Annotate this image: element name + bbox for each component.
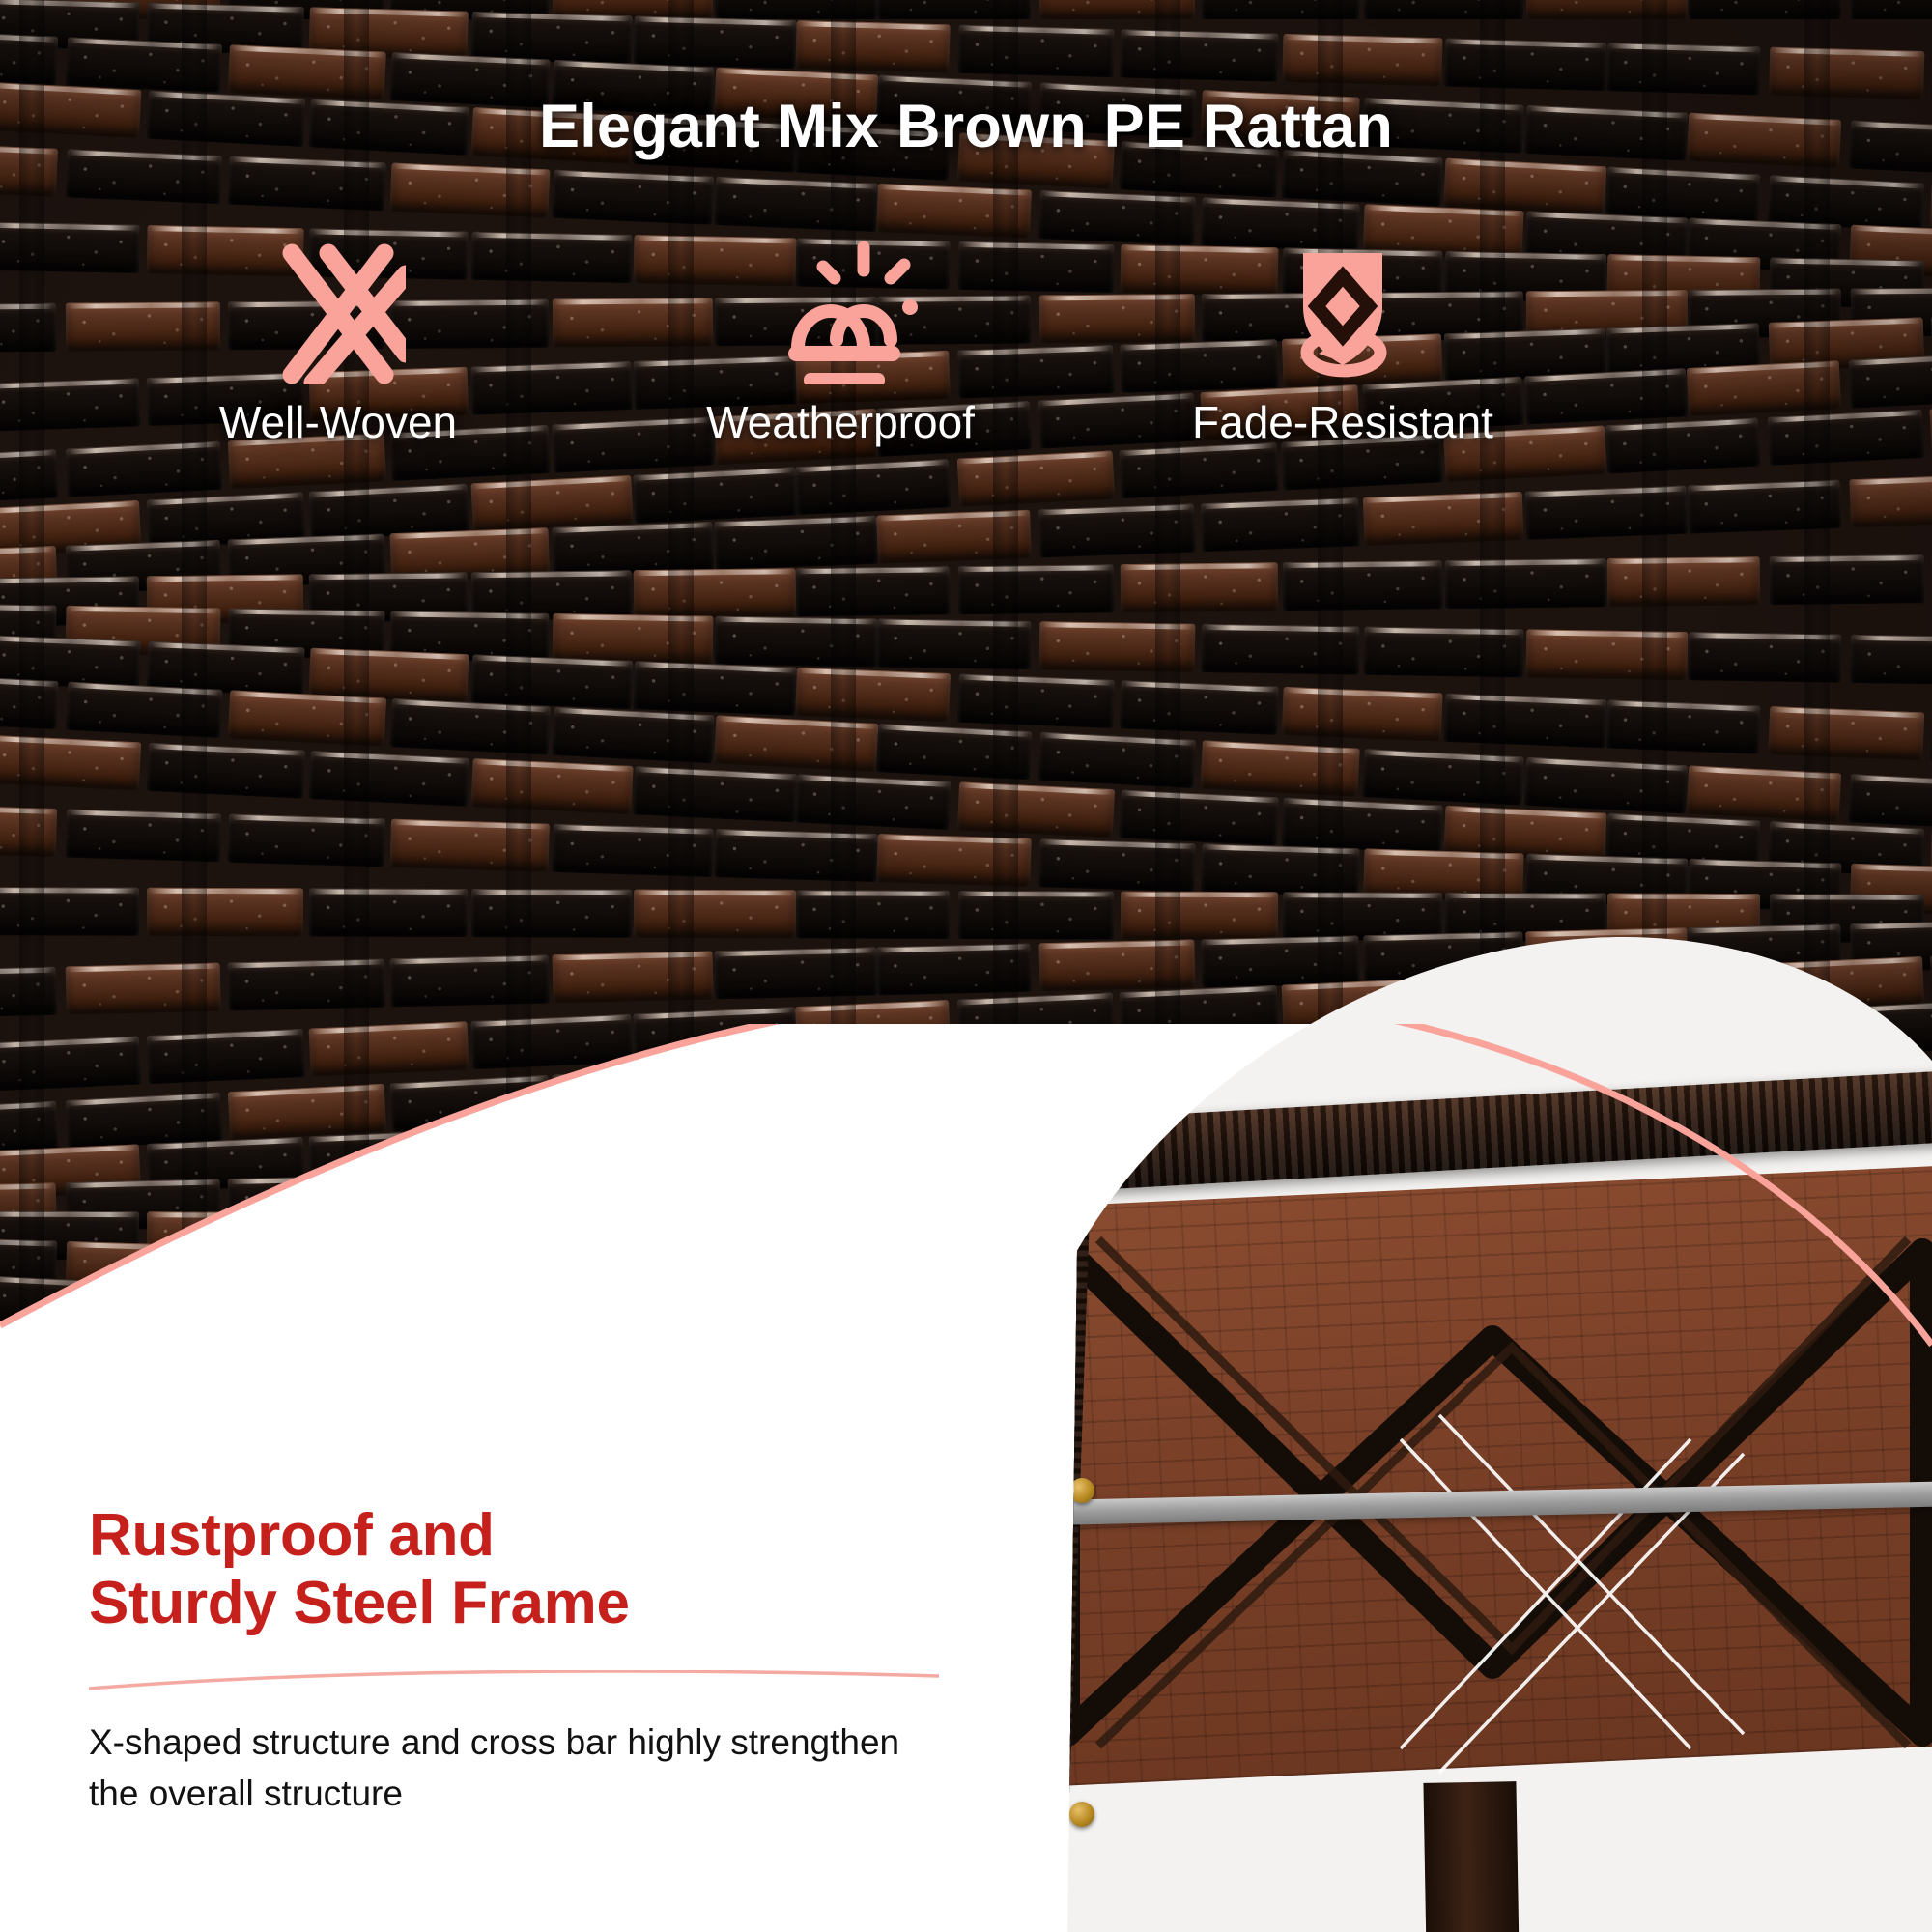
- feature-label: Well-Woven: [219, 396, 457, 448]
- feature-label: Weatherproof: [706, 396, 975, 448]
- bottom-body-copy: X-shaped structure and cross bar highly …: [89, 1718, 939, 1819]
- weave-lattice-icon: [270, 240, 406, 384]
- product-feature-graphic: Elegant Mix Brown PE Rattan Well-Woven: [0, 0, 1932, 1932]
- feature-item-weatherproof: Weatherproof: [589, 240, 1092, 448]
- bottom-text-block: Rustproof and Sturdy Steel Frame X-shape…: [89, 1502, 939, 1819]
- bottom-heading-line2: Sturdy Steel Frame: [89, 1570, 939, 1637]
- sun-cloud-weather-icon: [763, 240, 918, 384]
- shield-rotate-icon: [1270, 240, 1415, 384]
- pink-divider-rule: [89, 1670, 939, 1691]
- page-title: Elegant Mix Brown PE Rattan: [0, 92, 1932, 161]
- feature-item-well-woven: Well-Woven: [87, 240, 589, 448]
- feature-label: Fade-Resistant: [1192, 396, 1493, 448]
- feature-list: Well-Woven: [87, 240, 1594, 448]
- screw-lower: [1069, 1802, 1094, 1827]
- back-leg: [1423, 1781, 1519, 1932]
- feature-item-fade-resistant: Fade-Resistant: [1092, 240, 1594, 448]
- bottom-heading-line1: Rustproof and: [89, 1502, 939, 1570]
